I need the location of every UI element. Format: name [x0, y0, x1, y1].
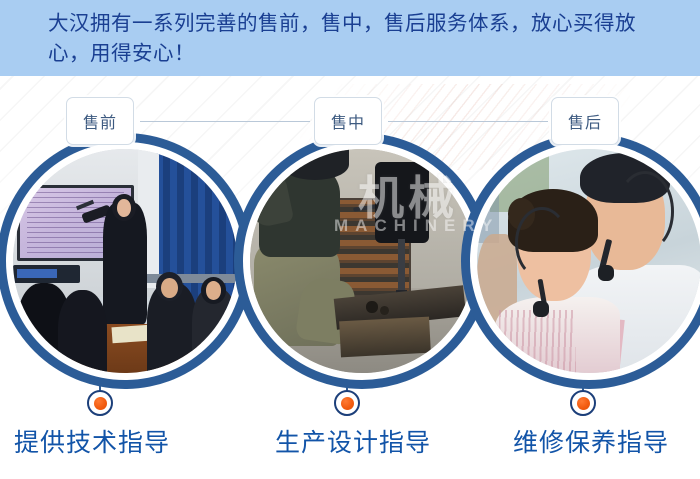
header-band: 大汉拥有一系列完善的售前，售中，售后服务体系，放心买得放心，用得安心！ [0, 0, 700, 76]
stage-badge-after-sale[interactable]: 售后 [551, 97, 619, 145]
badge-rule [512, 121, 548, 122]
dot-core [94, 397, 107, 410]
dot-core [341, 397, 354, 410]
stage-badge-label: 售中 [331, 109, 365, 133]
timeline-dot-marker [334, 390, 360, 416]
stage-badge-during-sale[interactable]: 售中 [314, 97, 382, 145]
header-headline: 大汉拥有一系列完善的售前，售中，售后服务体系，放心买得放心，用得安心！ [48, 9, 668, 69]
stage-caption-during-sale: 生产设计指导 [275, 428, 431, 458]
stage-photo-circle-during-sale [243, 142, 481, 380]
service-system-infographic: 大汉拥有一系列完善的售前，售中，售后服务体系，放心买得放心，用得安心！ 售前 售… [0, 0, 700, 479]
photo-clip [250, 149, 474, 373]
photo-clip [13, 149, 237, 373]
timeline-dot-marker [570, 390, 596, 416]
stage-badge-pre-sale[interactable]: 售前 [66, 97, 134, 145]
photo-clip [477, 149, 700, 373]
worker-drill-press-photo [250, 149, 474, 373]
stage-caption-after-sale: 维修保养指导 [513, 428, 669, 458]
stage-photo-circle-after-sale [470, 142, 700, 380]
badge-rule [140, 121, 310, 122]
dot-core [577, 397, 590, 410]
stage-caption-pre-sale: 提供技术指导 [14, 428, 170, 458]
stage-photo-circle-pre-sale [6, 142, 244, 380]
timeline-dot-marker [87, 390, 113, 416]
circle-photo-row [0, 139, 700, 384]
training-presentation-photo [13, 149, 237, 373]
stage-badge-label: 售前 [83, 109, 117, 133]
call-center-agents-photo [477, 149, 700, 373]
stage-badge-label: 售后 [568, 109, 602, 133]
